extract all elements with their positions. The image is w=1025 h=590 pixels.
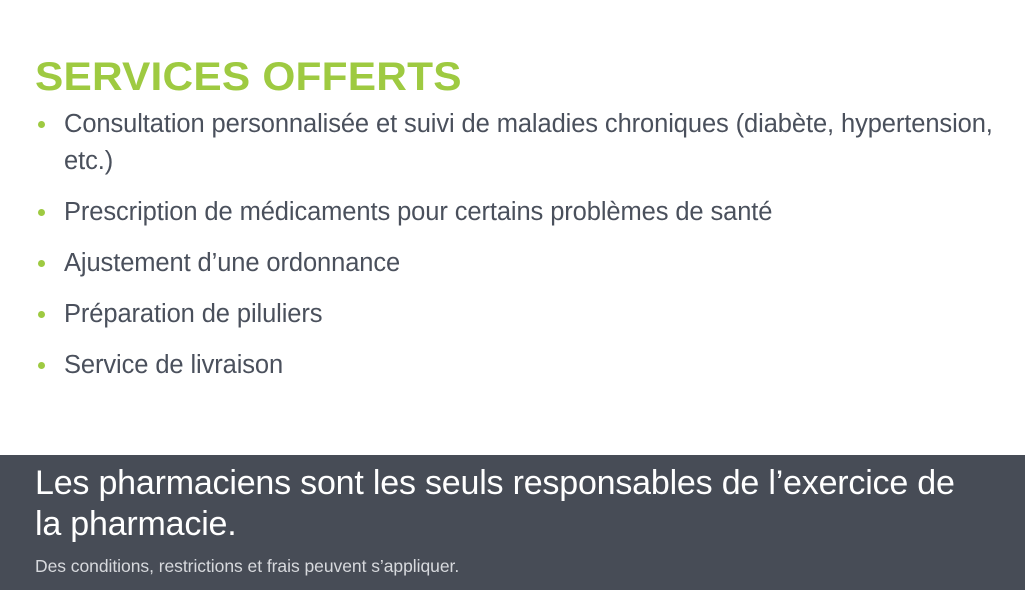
list-item-label: Ajustement d’une ordonnance <box>64 245 1000 282</box>
list-item: Préparation de piluliers <box>35 296 1000 333</box>
list-item: Service de livraison <box>35 347 1000 384</box>
bullet-dot-icon <box>38 260 45 267</box>
bullet-dot-icon <box>38 362 45 369</box>
list-item: Ajustement d’une ordonnance <box>35 245 1000 282</box>
list-item-label: Préparation de piluliers <box>64 296 1000 333</box>
page-title: SERVICES OFFERTS <box>35 56 462 99</box>
list-item: Consultation personnalisée et suivi de m… <box>35 106 1000 180</box>
list-item-label: Service de livraison <box>64 347 1000 384</box>
services-list: Consultation personnalisée et suivi de m… <box>35 106 1000 384</box>
footer-banner: Les pharmaciens sont les seuls responsab… <box>0 455 1025 590</box>
list-item-label: Consultation personnalisée et suivi de m… <box>64 106 1000 180</box>
bullet-dot-icon <box>38 121 45 128</box>
slide-canvas: SERVICES OFFERTS Consultation personnali… <box>0 0 1025 590</box>
bullet-dot-icon <box>38 209 45 216</box>
footer-disclaimer: Des conditions, restrictions et frais pe… <box>35 554 985 578</box>
bullet-dot-icon <box>38 311 45 318</box>
list-item-label: Prescription de médicaments pour certain… <box>64 194 1000 231</box>
footer-headline: Les pharmaciens sont les seuls responsab… <box>35 463 985 545</box>
list-item: Prescription de médicaments pour certain… <box>35 194 1000 231</box>
